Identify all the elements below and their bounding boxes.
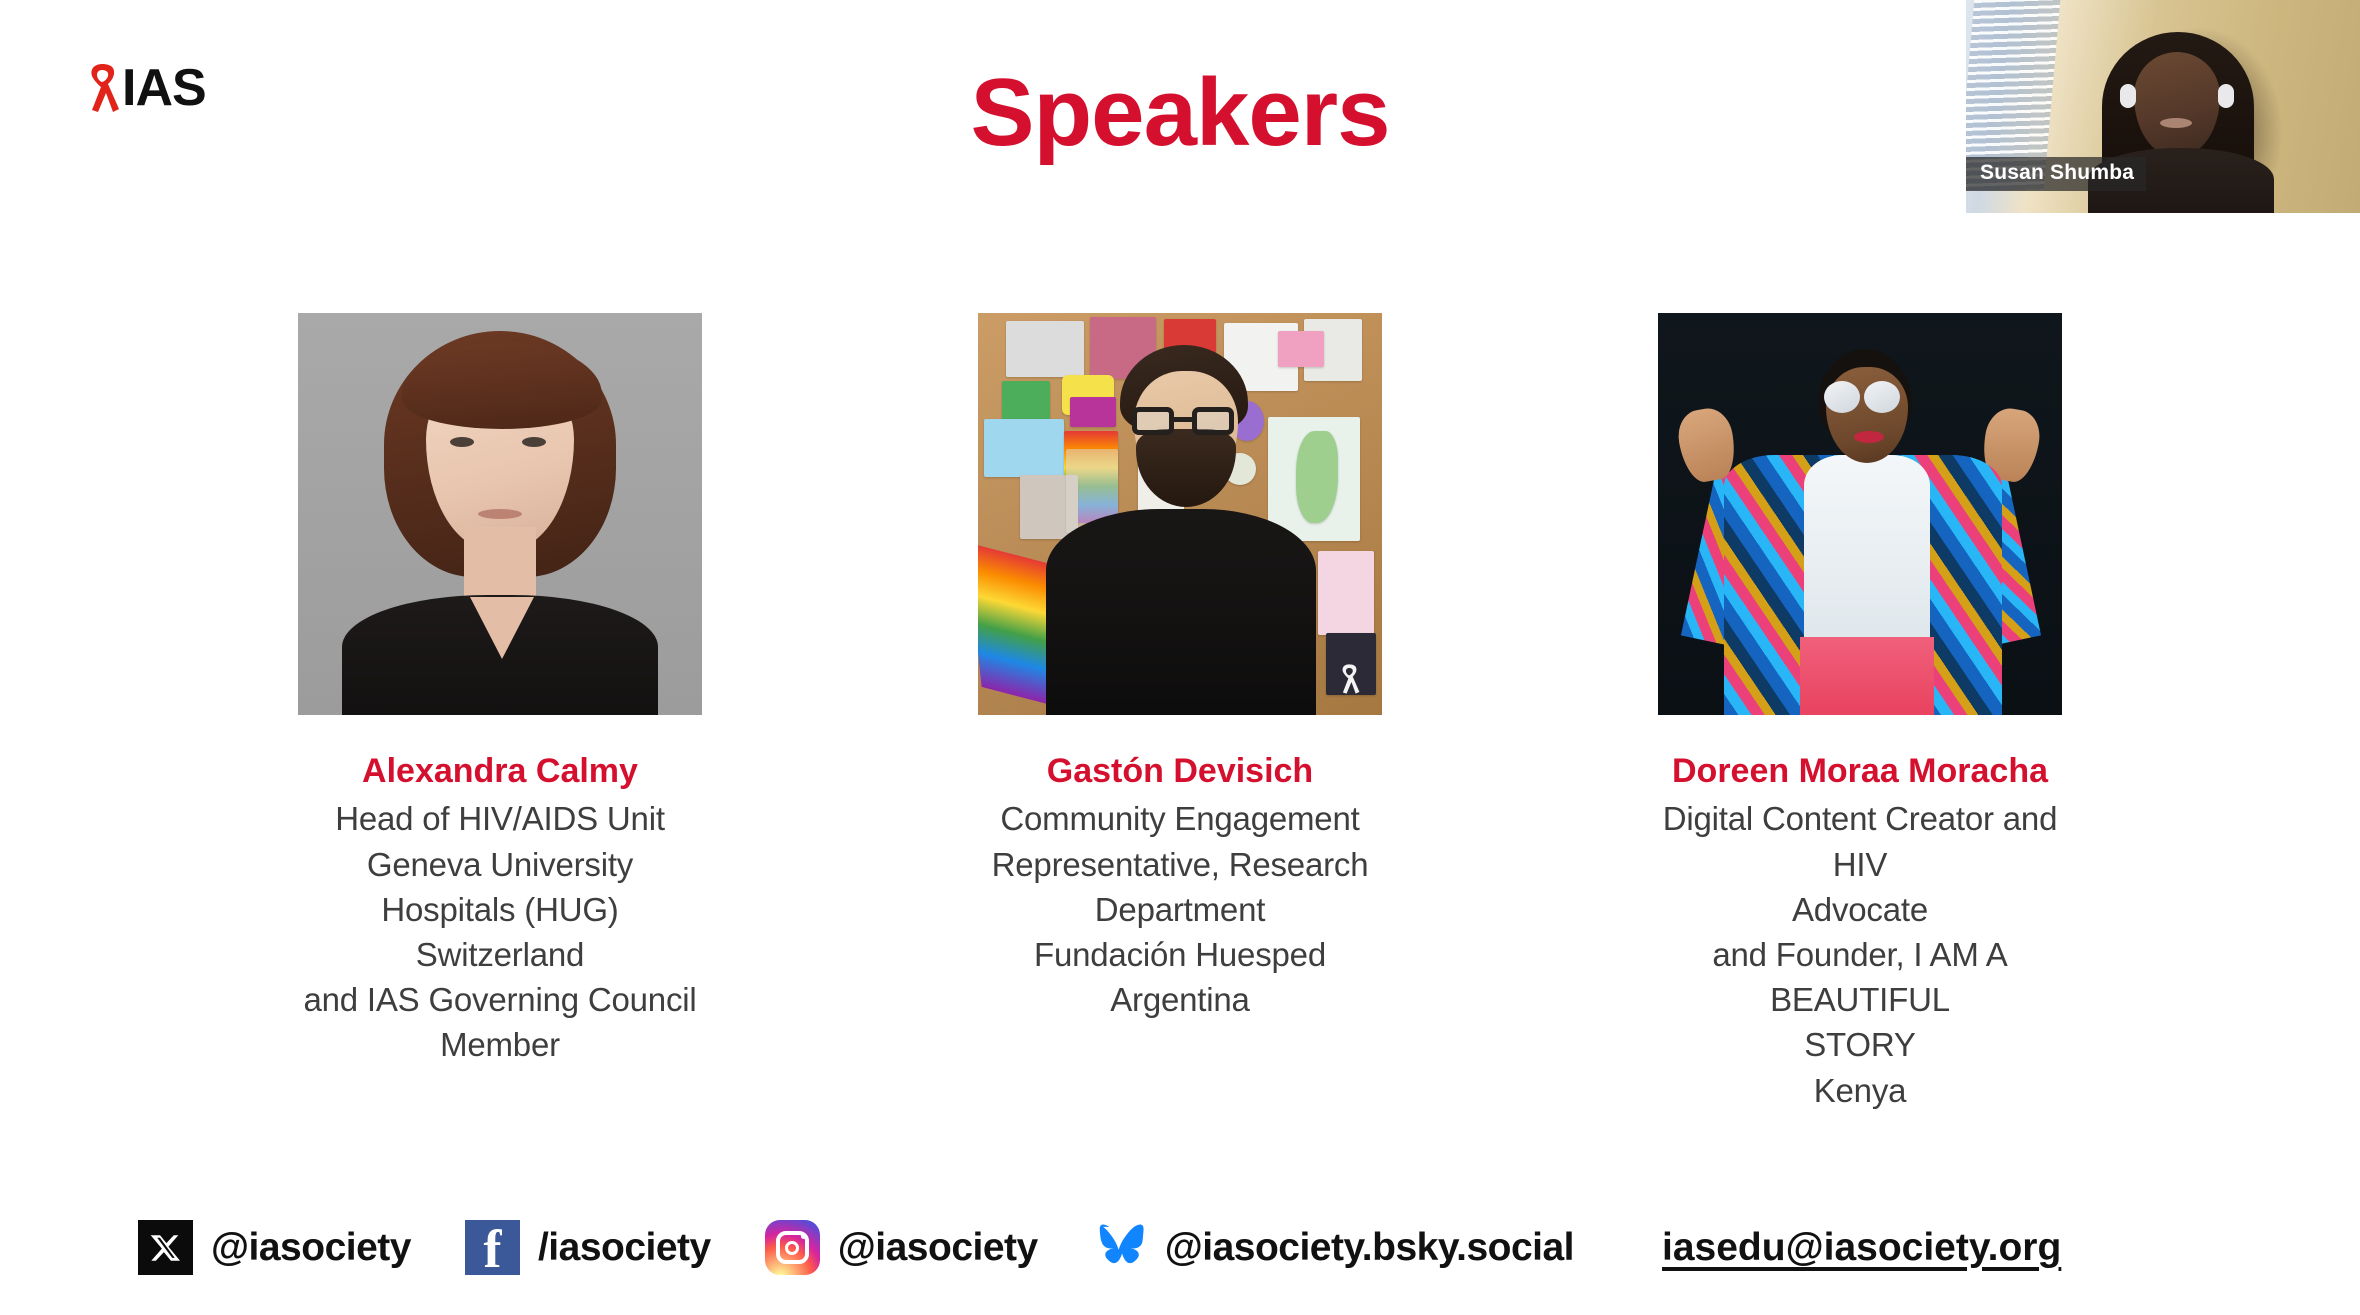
social-handle: /iasociety — [538, 1226, 711, 1270]
speaker-photo-gaston-devisich — [978, 313, 1382, 715]
speaker-name: Doreen Moraa Moracha — [1672, 753, 2048, 790]
social-handle: @iasociety.bsky.social — [1165, 1226, 1574, 1270]
social-footer: @iasociety f /iasociety @iasociety @iaso… — [0, 1220, 2360, 1275]
video-participant-tile[interactable]: Susan Shumba — [1966, 0, 2360, 213]
x-twitter-icon — [138, 1220, 193, 1275]
social-link-instagram[interactable]: @iasociety — [765, 1220, 1038, 1275]
presentation-slide: IAS Speakers Susan Shumba — [0, 0, 2360, 1315]
ribbon-watermark-icon — [1338, 663, 1360, 695]
speaker-affiliation: Community Engagement Representative, Res… — [992, 796, 1369, 1022]
contact-email-link[interactable]: iasedu@iasociety.org — [1662, 1226, 2061, 1270]
speaker-name: Alexandra Calmy — [362, 753, 638, 790]
social-handle: @iasociety — [211, 1226, 411, 1270]
bluesky-icon — [1092, 1220, 1147, 1275]
speaker-affiliation: Digital Content Creator and HIV Advocate… — [1658, 796, 2062, 1112]
speaker-affiliation: Head of HIV/AIDS Unit Geneva University … — [298, 796, 702, 1067]
speaker-card: Alexandra Calmy Head of HIV/AIDS Unit Ge… — [298, 313, 702, 1113]
speakers-row: Alexandra Calmy Head of HIV/AIDS Unit Ge… — [0, 313, 2360, 1113]
participant-name-label: Susan Shumba — [1966, 157, 2146, 191]
speaker-photo-doreen-moraa-moracha — [1658, 313, 2062, 715]
social-link-facebook[interactable]: f /iasociety — [465, 1220, 711, 1275]
speaker-name: Gastón Devisich — [1047, 753, 1313, 790]
instagram-icon — [765, 1220, 820, 1275]
speaker-card: Doreen Moraa Moracha Digital Content Cre… — [1658, 313, 2062, 1113]
facebook-icon: f — [465, 1220, 520, 1275]
social-link-bluesky[interactable]: @iasociety.bsky.social — [1092, 1220, 1574, 1275]
speaker-photo-alexandra-calmy — [298, 313, 702, 715]
social-handle: @iasociety — [838, 1226, 1038, 1270]
social-link-x[interactable]: @iasociety — [138, 1220, 411, 1275]
speaker-card: Gastón Devisich Community Engagement Rep… — [978, 313, 1382, 1113]
